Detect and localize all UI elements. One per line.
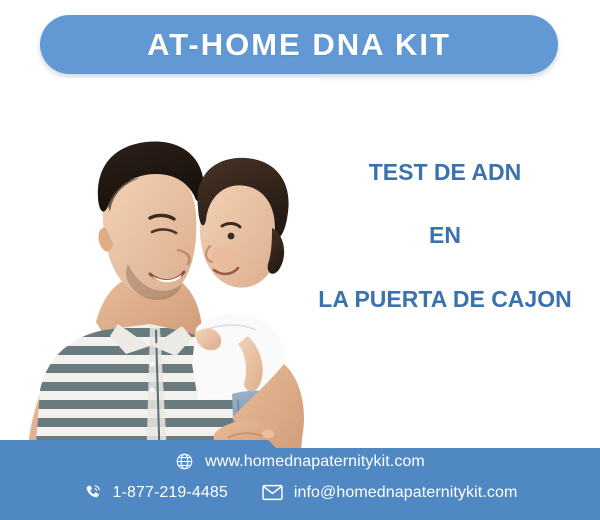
website-item[interactable]: www.homednapaternitykit.com [175,452,425,471]
globe-icon [175,452,194,471]
banner-title-text: AT-HOME DNA KIT [147,29,451,60]
email-label: info@homednapaternitykit.com [294,485,518,501]
title-banner: AT-HOME DNA KIT [40,15,558,74]
father-and-child-photo [0,78,320,470]
phone-label: 1-877-219-4485 [113,485,228,501]
poster-canvas: AT-HOME DNA KIT [0,0,600,520]
phone-item[interactable]: 1-877-219-4485 [83,483,228,502]
footer-row-contacts: 1-877-219-4485 info@homednapaternitykit.… [0,483,600,502]
email-item[interactable]: info@homednapaternitykit.com [262,484,518,501]
headline-block: TEST DE ADN EN LA PUERTA DE CAJON [300,160,590,312]
website-label: www.homednapaternitykit.com [205,454,425,470]
headline-line-2: EN [300,223,590,248]
headline-line-1: TEST DE ADN [300,160,590,185]
envelope-icon [262,484,283,501]
phone-icon [83,483,102,502]
headline-line-3: LA PUERTA DE CAJON [300,287,590,312]
photo-illustration [0,78,320,470]
contact-footer: www.homednapaternitykit.com 1-877-219-44… [0,440,600,520]
footer-row-website: www.homednapaternitykit.com [0,452,600,471]
